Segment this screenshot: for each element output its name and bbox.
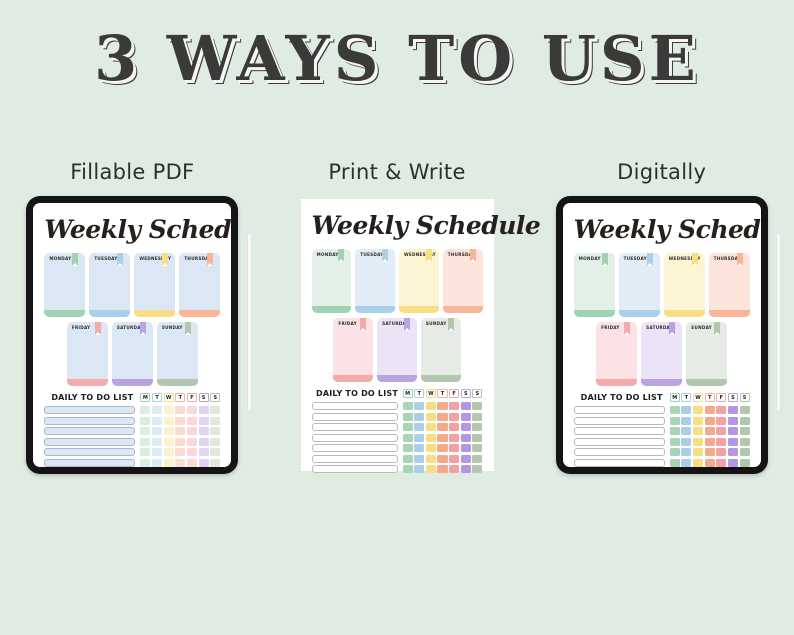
todo-input-line[interactable] bbox=[312, 444, 398, 452]
showcase-stage: Weekly Schedule MONDAY TUESDAY WEDNESDAY… bbox=[0, 196, 794, 486]
todo-checkbox-cell[interactable] bbox=[693, 417, 703, 425]
day-card-body[interactable]: SUNDAY bbox=[686, 322, 727, 379]
todo-checkbox-cell[interactable] bbox=[449, 413, 459, 421]
day-card-body[interactable]: SUNDAY bbox=[421, 318, 461, 375]
day-card-bottom-bar bbox=[421, 375, 461, 382]
todo-header: DAILY TO DO LIST MTWTFSS bbox=[44, 393, 220, 402]
todo-input-line[interactable] bbox=[312, 465, 398, 473]
day-card-monday[interactable]: MONDAY bbox=[44, 253, 85, 317]
todo-checkbox-cell[interactable] bbox=[681, 448, 691, 456]
todo-input-line[interactable] bbox=[312, 402, 398, 410]
todo-checkbox-cell[interactable] bbox=[449, 434, 459, 442]
day-card-saturday[interactable]: SATURDAY bbox=[377, 318, 417, 382]
column-fillable-pdf: Weekly Schedule MONDAY TUESDAY WEDNESDAY… bbox=[0, 196, 265, 486]
todo-checkbox-cell[interactable] bbox=[670, 427, 680, 435]
todo-check-row bbox=[670, 427, 750, 435]
todo-checkbox-cell[interactable] bbox=[164, 459, 174, 467]
todo-checkbox-cell[interactable] bbox=[670, 406, 680, 414]
bookmark-ribbon-icon bbox=[426, 249, 432, 262]
todo-check-row bbox=[403, 444, 483, 452]
todo-check-row bbox=[403, 402, 483, 410]
todo-checkbox-cell[interactable] bbox=[693, 448, 703, 456]
todo-checkbox-cell[interactable] bbox=[437, 434, 447, 442]
todo-checkbox-cell[interactable] bbox=[449, 423, 459, 431]
bookmark-ribbon-icon bbox=[669, 322, 675, 335]
tablet-screen-fillable: Weekly Schedule MONDAY TUESDAY WEDNESDAY… bbox=[33, 203, 231, 467]
todo-checkbox-cell[interactable] bbox=[740, 438, 750, 446]
bookmark-ribbon-icon bbox=[448, 318, 454, 331]
day-card-body[interactable]: MONDAY bbox=[44, 253, 85, 310]
bookmark-ribbon-icon bbox=[404, 318, 410, 331]
todo-checkbox-cell[interactable] bbox=[164, 438, 174, 446]
todo-checkbox-cell[interactable] bbox=[449, 465, 459, 473]
todo-checkbox-cell[interactable] bbox=[403, 444, 413, 452]
todo-input-line[interactable] bbox=[574, 459, 665, 467]
todo-checkbox-cell[interactable] bbox=[705, 427, 715, 435]
todo-input-line[interactable] bbox=[312, 423, 398, 431]
todo-checkbox-cell[interactable] bbox=[164, 406, 174, 414]
todo-section-title: DAILY TO DO LIST bbox=[44, 393, 140, 402]
todo-input-line[interactable] bbox=[312, 455, 398, 463]
stylus-pen-fillable bbox=[247, 234, 251, 410]
todo-checkbox-cell[interactable] bbox=[740, 417, 750, 425]
todo-input-line[interactable] bbox=[44, 427, 135, 435]
day-card-label: WEDNESDAY bbox=[664, 253, 705, 261]
day-card-thursday[interactable]: THURSDAY bbox=[443, 249, 483, 313]
day-card-bottom-bar bbox=[574, 310, 615, 317]
planner-title: Weekly Schedule bbox=[574, 215, 750, 244]
day-card-sunday[interactable]: SUNDAY bbox=[421, 318, 461, 382]
todo-checkbox-cell[interactable] bbox=[403, 465, 413, 473]
tablet-device-fillable: Weekly Schedule MONDAY TUESDAY WEDNESDAY… bbox=[26, 196, 238, 474]
day-card-label: FRIDAY bbox=[596, 322, 637, 330]
todo-checkbox-cell[interactable] bbox=[705, 417, 715, 425]
todo-checkbox-cell[interactable] bbox=[472, 465, 482, 473]
todo-check-row bbox=[403, 434, 483, 442]
todo-checkbox-cell[interactable] bbox=[152, 459, 162, 467]
todo-checkbox-cell[interactable] bbox=[728, 427, 738, 435]
todo-body bbox=[574, 406, 750, 467]
todo-checkbox-cell[interactable] bbox=[693, 459, 703, 467]
todo-checkbox-cell[interactable] bbox=[740, 406, 750, 414]
day-card-label: FRIDAY bbox=[333, 318, 373, 326]
day-row-weekend: FRIDAY SATURDAY SUNDAY bbox=[44, 322, 220, 386]
bookmark-ribbon-icon bbox=[338, 249, 344, 262]
todo-checkbox-cell[interactable] bbox=[681, 406, 691, 414]
todo-checkbox-cell[interactable] bbox=[210, 459, 220, 467]
day-card-label: THURSDAY bbox=[443, 249, 483, 257]
todo-checkbox-cell[interactable] bbox=[210, 448, 220, 456]
day-card-body[interactable]: SATURDAY bbox=[377, 318, 417, 375]
day-card-label: TUESDAY bbox=[619, 253, 660, 261]
todo-checkbox-cell[interactable] bbox=[426, 465, 436, 473]
todo-checkbox-cell[interactable] bbox=[403, 455, 413, 463]
day-card-body[interactable]: TUESDAY bbox=[355, 249, 395, 306]
day-card-bottom-bar bbox=[134, 310, 175, 317]
day-card-bottom-bar bbox=[399, 306, 439, 313]
dow-header-0: M bbox=[140, 393, 150, 402]
todo-checkbox-cell[interactable] bbox=[472, 455, 482, 463]
todo-lines bbox=[44, 406, 135, 467]
page-title: 3 WAYS TO USE bbox=[0, 22, 794, 95]
todo-checkbox-cell[interactable] bbox=[461, 444, 471, 452]
todo-check-row bbox=[670, 438, 750, 446]
todo-input-line[interactable] bbox=[44, 448, 135, 456]
day-card-body[interactable]: WEDNESDAY bbox=[664, 253, 705, 310]
todo-input-line[interactable] bbox=[574, 438, 665, 446]
day-row-weekdays: MONDAY TUESDAY WEDNESDAY THURSDAY bbox=[44, 253, 220, 317]
day-row-weekdays: MONDAY TUESDAY WEDNESDAY THURSDAY bbox=[312, 249, 483, 313]
todo-input-line[interactable] bbox=[44, 406, 135, 414]
day-card-saturday[interactable]: SATURDAY bbox=[641, 322, 682, 386]
todo-checkbox-cell[interactable] bbox=[437, 465, 447, 473]
todo-check-row bbox=[670, 417, 750, 425]
todo-check-row bbox=[403, 423, 483, 431]
todo-section-title: DAILY TO DO LIST bbox=[312, 389, 403, 398]
dow-header-3: T bbox=[705, 393, 715, 402]
day-card-body[interactable]: SATURDAY bbox=[112, 322, 153, 379]
todo-checkbox-cell[interactable] bbox=[199, 417, 209, 425]
day-card-bottom-bar bbox=[89, 310, 130, 317]
todo-input-line[interactable] bbox=[44, 459, 135, 467]
planner-sheet-print: Weekly Schedule MONDAY TUESDAY WEDNESDAY… bbox=[301, 199, 494, 471]
day-card-tuesday[interactable]: TUESDAY bbox=[355, 249, 395, 313]
todo-checkbox-cell[interactable] bbox=[187, 459, 197, 467]
day-card-bottom-bar bbox=[112, 379, 153, 386]
todo-checkbox-cell[interactable] bbox=[187, 417, 197, 425]
todo-checkbox-cell[interactable] bbox=[152, 406, 162, 414]
todo-checkbox-cell[interactable] bbox=[140, 417, 150, 425]
dow-header-4: F bbox=[716, 393, 726, 402]
todo-checkbox-cell[interactable] bbox=[210, 427, 220, 435]
todo-checkbox-cell[interactable] bbox=[670, 417, 680, 425]
day-card-monday[interactable]: MONDAY bbox=[312, 249, 352, 313]
todo-checkbox-cell[interactable] bbox=[199, 406, 209, 414]
todo-check-row bbox=[140, 438, 220, 446]
todo-checkbox-cell[interactable] bbox=[693, 406, 703, 414]
todo-checkbox-cell[interactable] bbox=[414, 413, 424, 421]
dow-header-6: S bbox=[740, 393, 750, 402]
todo-checkbox-cell[interactable] bbox=[414, 423, 424, 431]
todo-input-line[interactable] bbox=[574, 427, 665, 435]
day-card-body[interactable]: FRIDAY bbox=[596, 322, 637, 379]
day-card-label: THURSDAY bbox=[709, 253, 750, 261]
todo-checkbox-cell[interactable] bbox=[472, 444, 482, 452]
dow-header-row: MTWTFSS bbox=[140, 393, 220, 402]
todo-checkbox-cell[interactable] bbox=[152, 427, 162, 435]
todo-checkbox-cell[interactable] bbox=[705, 459, 715, 467]
todo-checkbox-cell[interactable] bbox=[403, 413, 413, 421]
day-card-label: MONDAY bbox=[312, 249, 352, 257]
todo-checkbox-cell[interactable] bbox=[449, 455, 459, 463]
day-card-bottom-bar bbox=[596, 379, 637, 386]
todo-checkbox-cell[interactable] bbox=[175, 438, 185, 446]
dow-header-3: T bbox=[175, 393, 185, 402]
todo-checkbox-cell[interactable] bbox=[140, 438, 150, 446]
todo-checkbox-cell[interactable] bbox=[728, 459, 738, 467]
todo-checkbox-cell[interactable] bbox=[728, 406, 738, 414]
todo-check-row bbox=[140, 448, 220, 456]
todo-checkbox-cell[interactable] bbox=[670, 448, 680, 456]
todo-checkbox-cell[interactable] bbox=[426, 402, 436, 410]
todo-checkbox-cell[interactable] bbox=[175, 448, 185, 456]
todo-checkbox-cell[interactable] bbox=[705, 448, 715, 456]
day-card-sunday[interactable]: SUNDAY bbox=[157, 322, 198, 386]
todo-checkbox-cell[interactable] bbox=[199, 459, 209, 467]
day-card-bottom-bar bbox=[333, 375, 373, 382]
day-card-body[interactable]: WEDNESDAY bbox=[399, 249, 439, 306]
day-card-label: SUNDAY bbox=[686, 322, 727, 330]
todo-checkbox-cell[interactable] bbox=[403, 423, 413, 431]
day-card-label: WEDNESDAY bbox=[399, 249, 439, 257]
todo-input-line[interactable] bbox=[312, 413, 398, 421]
todo-input-line[interactable] bbox=[574, 406, 665, 414]
day-card-sunday[interactable]: SUNDAY bbox=[686, 322, 727, 386]
todo-checkbox-cell[interactable] bbox=[152, 448, 162, 456]
todo-checkbox-cell[interactable] bbox=[199, 438, 209, 446]
todo-checkbox-cell[interactable] bbox=[414, 465, 424, 473]
todo-checkbox-cell[interactable] bbox=[437, 455, 447, 463]
dow-header-5: S bbox=[199, 393, 209, 402]
todo-input-line[interactable] bbox=[312, 434, 398, 442]
todo-checkbox-cell[interactable] bbox=[140, 459, 150, 467]
todo-checkbox-cell[interactable] bbox=[693, 427, 703, 435]
day-card-body[interactable]: THURSDAY bbox=[443, 249, 483, 306]
todo-checkbox-cell[interactable] bbox=[681, 427, 691, 435]
todo-checkbox-cell[interactable] bbox=[187, 448, 197, 456]
dow-header-2: W bbox=[426, 389, 436, 398]
todo-checkbox-cell[interactable] bbox=[693, 438, 703, 446]
day-card-body[interactable]: TUESDAY bbox=[619, 253, 660, 310]
todo-checkbox-cell[interactable] bbox=[437, 413, 447, 421]
day-card-monday[interactable]: MONDAY bbox=[574, 253, 615, 317]
dow-header-5: S bbox=[461, 389, 471, 398]
day-card-label: THURSDAY bbox=[179, 253, 220, 261]
todo-checkbox-cell[interactable] bbox=[437, 402, 447, 410]
dow-header-5: S bbox=[728, 393, 738, 402]
dow-header-3: T bbox=[437, 389, 447, 398]
todo-checkbox-cell[interactable] bbox=[140, 406, 150, 414]
todo-checkbox-cell[interactable] bbox=[414, 434, 424, 442]
todo-checkbox-cell[interactable] bbox=[140, 448, 150, 456]
bookmark-ribbon-icon bbox=[117, 253, 123, 266]
day-card-body[interactable]: MONDAY bbox=[312, 249, 352, 306]
todo-checkbox-cell[interactable] bbox=[437, 423, 447, 431]
day-card-thursday[interactable]: THURSDAY bbox=[179, 253, 220, 317]
dow-header-0: M bbox=[403, 389, 413, 398]
todo-checkbox-cell[interactable] bbox=[681, 417, 691, 425]
todo-checkbox-cell[interactable] bbox=[716, 459, 726, 467]
todo-checkbox-cell[interactable] bbox=[740, 448, 750, 456]
todo-checkbox-cell[interactable] bbox=[716, 448, 726, 456]
day-card-wednesday[interactable]: WEDNESDAY bbox=[664, 253, 705, 317]
todo-checkbox-cell[interactable] bbox=[152, 417, 162, 425]
day-card-body[interactable]: SATURDAY bbox=[641, 322, 682, 379]
todo-check-grid bbox=[403, 402, 483, 473]
todo-check-row bbox=[670, 448, 750, 456]
day-row-weekend: FRIDAY SATURDAY SUNDAY bbox=[574, 322, 750, 386]
todo-checkbox-cell[interactable] bbox=[461, 413, 471, 421]
todo-checkbox-cell[interactable] bbox=[175, 459, 185, 467]
todo-body bbox=[312, 402, 483, 473]
dow-header-6: S bbox=[472, 389, 482, 398]
todo-checkbox-cell[interactable] bbox=[210, 406, 220, 414]
todo-checkbox-cell[interactable] bbox=[472, 434, 482, 442]
bookmark-ribbon-icon bbox=[602, 253, 608, 266]
bookmark-ribbon-icon bbox=[470, 249, 476, 262]
todo-checkbox-cell[interactable] bbox=[705, 438, 715, 446]
todo-checkbox-cell[interactable] bbox=[187, 438, 197, 446]
day-card-body[interactable]: WEDNESDAY bbox=[134, 253, 175, 310]
todo-checkbox-cell[interactable] bbox=[414, 444, 424, 452]
todo-input-line[interactable] bbox=[574, 417, 665, 425]
todo-checkbox-cell[interactable] bbox=[670, 459, 680, 467]
todo-checkbox-cell[interactable] bbox=[403, 434, 413, 442]
day-card-tuesday[interactable]: TUESDAY bbox=[619, 253, 660, 317]
todo-section-title: DAILY TO DO LIST bbox=[574, 393, 670, 402]
todo-checkbox-cell[interactable] bbox=[740, 427, 750, 435]
planner-title: Weekly Schedule bbox=[312, 211, 483, 240]
todo-input-line[interactable] bbox=[44, 417, 135, 425]
todo-lines bbox=[312, 402, 398, 473]
todo-input-line[interactable] bbox=[574, 448, 665, 456]
todo-checkbox-cell[interactable] bbox=[426, 455, 436, 463]
day-row-weekdays: MONDAY TUESDAY WEDNESDAY THURSDAY bbox=[574, 253, 750, 317]
todo-checkbox-cell[interactable] bbox=[414, 402, 424, 410]
todo-checkbox-cell[interactable] bbox=[461, 455, 471, 463]
todo-checkbox-cell[interactable] bbox=[716, 438, 726, 446]
day-card-label: SUNDAY bbox=[157, 322, 198, 330]
day-card-body[interactable]: THURSDAY bbox=[179, 253, 220, 310]
day-card-friday[interactable]: FRIDAY bbox=[67, 322, 108, 386]
todo-checkbox-cell[interactable] bbox=[461, 423, 471, 431]
todo-checkbox-cell[interactable] bbox=[461, 434, 471, 442]
bookmark-ribbon-icon bbox=[382, 249, 388, 262]
todo-checkbox-cell[interactable] bbox=[187, 406, 197, 414]
day-card-bottom-bar bbox=[179, 310, 220, 317]
todo-checkbox-cell[interactable] bbox=[426, 423, 436, 431]
day-card-friday[interactable]: FRIDAY bbox=[333, 318, 373, 382]
todo-checkbox-cell[interactable] bbox=[210, 417, 220, 425]
todo-checkbox-cell[interactable] bbox=[461, 465, 471, 473]
bookmark-ribbon-icon bbox=[647, 253, 653, 266]
day-card-body[interactable]: FRIDAY bbox=[333, 318, 373, 375]
todo-checkbox-cell[interactable] bbox=[152, 438, 162, 446]
todo-checkbox-cell[interactable] bbox=[716, 417, 726, 425]
todo-checkbox-cell[interactable] bbox=[449, 402, 459, 410]
todo-checkbox-cell[interactable] bbox=[164, 417, 174, 425]
todo-check-row bbox=[403, 455, 483, 463]
todo-checkbox-cell[interactable] bbox=[164, 448, 174, 456]
todo-checkbox-cell[interactable] bbox=[140, 427, 150, 435]
todo-check-row bbox=[140, 427, 220, 435]
bookmark-ribbon-icon bbox=[624, 322, 630, 335]
todo-checkbox-cell[interactable] bbox=[187, 427, 197, 435]
todo-checkbox-cell[interactable] bbox=[426, 413, 436, 421]
day-card-saturday[interactable]: SATURDAY bbox=[112, 322, 153, 386]
bookmark-ribbon-icon bbox=[95, 322, 101, 335]
dow-header-6: S bbox=[210, 393, 220, 402]
dow-header-1: T bbox=[414, 389, 424, 398]
todo-header: DAILY TO DO LIST MTWTFSS bbox=[574, 393, 750, 402]
todo-checkbox-cell[interactable] bbox=[472, 423, 482, 431]
todo-check-row bbox=[140, 417, 220, 425]
todo-checkbox-cell[interactable] bbox=[210, 438, 220, 446]
day-card-label: FRIDAY bbox=[67, 322, 108, 330]
todo-checkbox-cell[interactable] bbox=[705, 406, 715, 414]
day-card-thursday[interactable]: THURSDAY bbox=[709, 253, 750, 317]
todo-checkbox-cell[interactable] bbox=[472, 402, 482, 410]
todo-checkbox-cell[interactable] bbox=[740, 459, 750, 467]
bookmark-ribbon-icon bbox=[692, 253, 698, 266]
todo-checkbox-cell[interactable] bbox=[728, 438, 738, 446]
todo-checkbox-cell[interactable] bbox=[199, 448, 209, 456]
todo-check-grid bbox=[670, 406, 750, 467]
day-card-bottom-bar bbox=[67, 379, 108, 386]
bookmark-ribbon-icon bbox=[737, 253, 743, 266]
todo-checkbox-cell[interactable] bbox=[426, 434, 436, 442]
day-card-label: SATURDAY bbox=[377, 318, 417, 326]
dow-header-row: MTWTFSS bbox=[403, 389, 483, 398]
day-card-body[interactable]: FRIDAY bbox=[67, 322, 108, 379]
todo-checkbox-cell[interactable] bbox=[164, 427, 174, 435]
dow-header-2: W bbox=[693, 393, 703, 402]
bookmark-ribbon-icon bbox=[162, 253, 168, 266]
todo-checkbox-cell[interactable] bbox=[175, 406, 185, 414]
todo-checkbox-cell[interactable] bbox=[437, 444, 447, 452]
day-row-weekend: FRIDAY SATURDAY SUNDAY bbox=[312, 318, 483, 382]
todo-body bbox=[44, 406, 220, 467]
todo-checkbox-cell[interactable] bbox=[681, 459, 691, 467]
todo-checkbox-cell[interactable] bbox=[728, 448, 738, 456]
day-card-body[interactable]: SUNDAY bbox=[157, 322, 198, 379]
day-card-wednesday[interactable]: WEDNESDAY bbox=[399, 249, 439, 313]
todo-checkbox-cell[interactable] bbox=[716, 427, 726, 435]
todo-checkbox-cell[interactable] bbox=[670, 438, 680, 446]
todo-checkbox-cell[interactable] bbox=[414, 455, 424, 463]
dow-header-row: MTWTFSS bbox=[670, 393, 750, 402]
todo-checkbox-cell[interactable] bbox=[716, 406, 726, 414]
todo-checkbox-cell[interactable] bbox=[681, 438, 691, 446]
todo-checkbox-cell[interactable] bbox=[199, 427, 209, 435]
day-card-bottom-bar bbox=[619, 310, 660, 317]
day-card-body[interactable]: TUESDAY bbox=[89, 253, 130, 310]
column-label-digitally: Digitally bbox=[529, 160, 794, 184]
todo-checkbox-cell[interactable] bbox=[403, 402, 413, 410]
tablet-screen-digital: Weekly Schedule MONDAY TUESDAY WEDNESDAY… bbox=[563, 203, 761, 467]
day-card-body[interactable]: THURSDAY bbox=[709, 253, 750, 310]
day-card-label: TUESDAY bbox=[89, 253, 130, 261]
day-card-body[interactable]: MONDAY bbox=[574, 253, 615, 310]
todo-checkbox-cell[interactable] bbox=[472, 413, 482, 421]
day-card-friday[interactable]: FRIDAY bbox=[596, 322, 637, 386]
column-label-print-write: Print & Write bbox=[265, 160, 530, 184]
day-card-bottom-bar bbox=[157, 379, 198, 386]
day-card-wednesday[interactable]: WEDNESDAY bbox=[134, 253, 175, 317]
todo-checkbox-cell[interactable] bbox=[728, 417, 738, 425]
day-card-bottom-bar bbox=[443, 306, 483, 313]
day-card-label: SUNDAY bbox=[421, 318, 461, 326]
todo-checkbox-cell[interactable] bbox=[175, 417, 185, 425]
todo-checkbox-cell[interactable] bbox=[175, 427, 185, 435]
bookmark-ribbon-icon bbox=[140, 322, 146, 335]
todo-checkbox-cell[interactable] bbox=[426, 444, 436, 452]
todo-checkbox-cell[interactable] bbox=[461, 402, 471, 410]
day-card-label: MONDAY bbox=[44, 253, 85, 261]
day-card-tuesday[interactable]: TUESDAY bbox=[89, 253, 130, 317]
todo-input-line[interactable] bbox=[44, 438, 135, 446]
todo-checkbox-cell[interactable] bbox=[449, 444, 459, 452]
